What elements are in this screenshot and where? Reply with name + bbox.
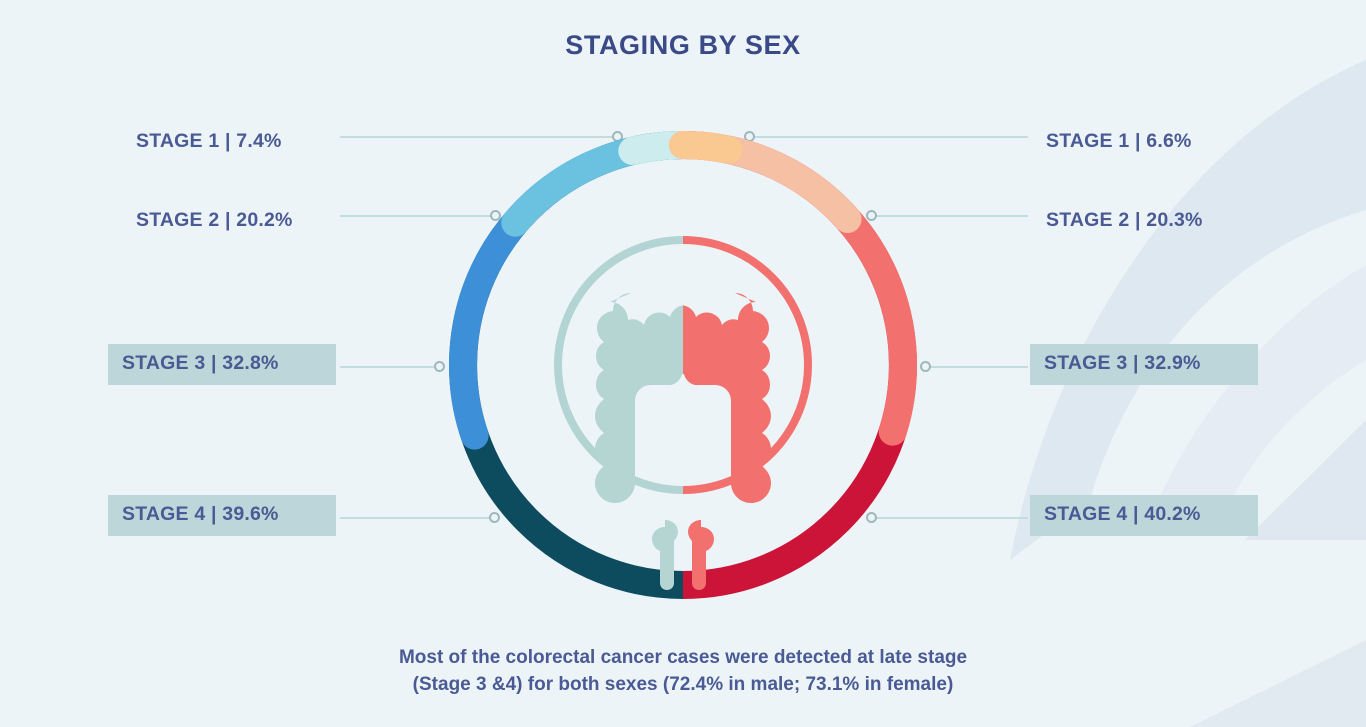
staging-donut-chart — [443, 125, 923, 605]
label-female-stage-3: STAGE 3 | 32.9% — [1030, 344, 1258, 385]
caption-line-1: Most of the colorectal cancer cases were… — [0, 645, 1366, 672]
label-male-stage-1: STAGE 1 | 7.4% — [122, 122, 296, 163]
arc-female-stage-1 — [683, 145, 728, 150]
infographic-canvas: STAGING BY SEX — [0, 0, 1366, 727]
colon-illustration — [595, 293, 771, 590]
leader-line-male-stage-3 — [340, 366, 442, 368]
label-male-stage-4: STAGE 4 | 39.6% — [108, 495, 336, 536]
leader-line-female-stage-3 — [926, 366, 1028, 368]
caption-line-2: (Stage 3 &4) for both sexes (72.4% in ma… — [0, 672, 1366, 699]
chart-caption: Most of the colorectal cancer cases were… — [0, 645, 1366, 699]
label-female-stage-4: STAGE 4 | 40.2% — [1030, 495, 1258, 536]
label-female-stage-1: STAGE 1 | 6.6% — [1032, 122, 1206, 163]
label-female-stage-2: STAGE 2 | 20.3% — [1032, 201, 1217, 242]
label-male-stage-3: STAGE 3 | 32.8% — [108, 344, 336, 385]
decor-swoosh-small — [1150, 265, 1366, 520]
label-male-stage-2: STAGE 2 | 20.2% — [122, 201, 307, 242]
page-title: STAGING BY SEX — [0, 30, 1366, 61]
decor-triangle-1 — [1245, 420, 1366, 540]
